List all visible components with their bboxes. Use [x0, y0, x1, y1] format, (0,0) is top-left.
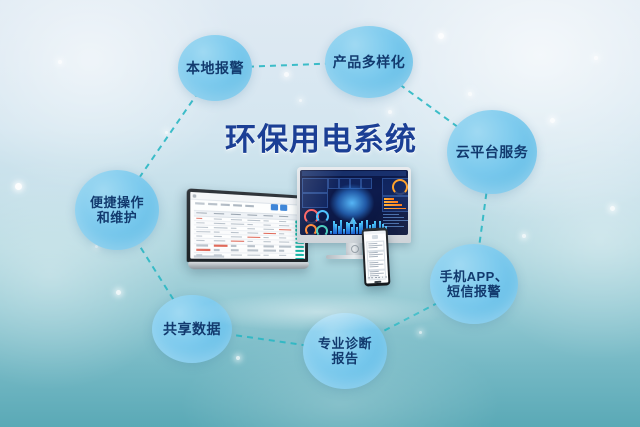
- feature-bubble-label: 本地报警: [186, 60, 244, 77]
- feature-bubble-label: 云平台服务: [456, 144, 529, 161]
- laptop-screen: [190, 192, 305, 259]
- feature-bubble-label: 手机APP、 短信报警: [440, 269, 509, 300]
- feature-bubble-label: 共享数据: [163, 321, 221, 338]
- feature-bubble-product-diversity[interactable]: 产品多样化: [325, 26, 413, 98]
- monitor-logo-icon: [351, 245, 359, 253]
- screen-sheen: [190, 192, 305, 259]
- poster-canvas: 本地报警产品多样化云平台服务手机APP、 短信报警专业诊断 报告共享数据便捷操作…: [0, 0, 640, 427]
- connector-line: [379, 302, 439, 333]
- feature-bubble-local-alarm[interactable]: 本地报警: [178, 35, 252, 101]
- desktop-monitor: [297, 167, 411, 259]
- laptop-lid: [187, 188, 308, 262]
- smartphone: [362, 227, 391, 286]
- page-title: 环保用电系统: [225, 114, 417, 159]
- monitor-bezel: [297, 167, 411, 243]
- phone-screen: [364, 230, 389, 283]
- connector-line: [248, 63, 331, 66]
- monitor-screen: [300, 170, 408, 235]
- feature-bubble-easy-operation[interactable]: 便捷操作 和维护: [75, 170, 159, 250]
- screen-sheen: [364, 230, 389, 283]
- screen-sheen: [300, 170, 408, 235]
- feature-bubble-diagnostic-report[interactable]: 专业诊断 报告: [303, 313, 387, 389]
- feature-bubble-mobile-app-sms[interactable]: 手机APP、 短信报警: [430, 244, 518, 324]
- feature-bubble-label: 产品多样化: [333, 54, 406, 71]
- connector-line: [479, 193, 486, 244]
- connector-line: [138, 243, 174, 299]
- connector-line: [227, 334, 308, 346]
- connector-line: [139, 95, 196, 178]
- feature-bubble-shared-data[interactable]: 共享数据: [152, 295, 232, 363]
- feature-bubble-label: 便捷操作 和维护: [90, 195, 144, 226]
- feature-bubble-label: 专业诊断 报告: [318, 336, 372, 367]
- feature-bubble-cloud-platform[interactable]: 云平台服务: [447, 110, 537, 194]
- laptop-base: [188, 262, 309, 269]
